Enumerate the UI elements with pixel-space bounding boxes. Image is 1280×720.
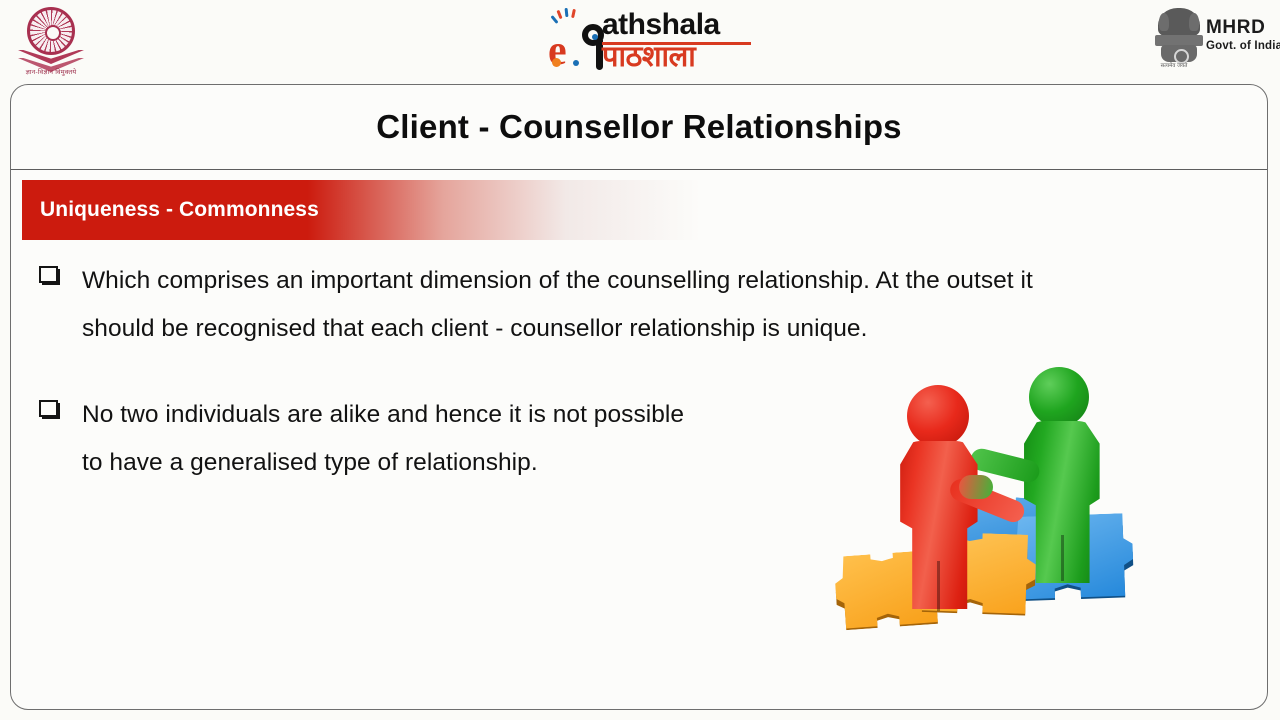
- list-item-line: should be recognised that each client - …: [82, 305, 1185, 353]
- spark-icon-3: [571, 9, 576, 18]
- figure-red-person: [889, 385, 999, 615]
- list-item-text: Which comprises an important dimension o…: [82, 257, 1185, 353]
- mhrd-title: MHRD: [1206, 18, 1265, 37]
- page-title: Client - Counsellor Relationships: [11, 85, 1267, 169]
- list-item: Which comprises an important dimension o…: [25, 257, 1185, 353]
- ugc-emblem-logo: ज्ञान-विज्ञान विमुक्तये: [8, 4, 94, 80]
- mhrd-motto-text: सत्यमेव जयते: [1146, 61, 1202, 69]
- figure-red-head: [907, 385, 969, 447]
- lion-capital-icon: [1158, 8, 1200, 36]
- orange-dot-icon: [552, 58, 561, 67]
- spark-icon-4: [550, 15, 558, 24]
- list-item-line: Which comprises an important dimension o…: [82, 257, 1185, 305]
- figure-green-leg-gap: [1061, 535, 1064, 581]
- blue-dot-icon: [573, 60, 579, 66]
- mhrd-logo: सत्यमेव जयते MHRD Govt. of India: [1146, 4, 1274, 78]
- slide-frame: Client - Counsellor Relationships Unique…: [10, 84, 1268, 710]
- epathshala-logo: e athshala पाठशाला: [546, 6, 751, 76]
- figure-red-leg-gap: [937, 561, 940, 611]
- square-bullet-icon: [39, 266, 58, 283]
- epathshala-wordmark-hi: पाठशाला: [602, 42, 695, 72]
- ugc-motto-text: ज्ञान-विज्ञान विमुक्तये: [8, 67, 94, 76]
- section-banner-label: Uniqueness - Commonness: [40, 198, 319, 222]
- spark-icon-2: [565, 8, 569, 17]
- section-banner: Uniqueness - Commonness: [22, 180, 702, 240]
- handshake-icon: [959, 475, 993, 499]
- handshake-puzzle-illustration: [821, 367, 1151, 657]
- page-header: ज्ञान-विज्ञान विमुक्तये e athshala पाठशा…: [0, 0, 1280, 82]
- square-bullet-icon: [39, 400, 58, 417]
- emblem-base-icon: [1161, 45, 1197, 62]
- figure-green-person: [1017, 367, 1127, 585]
- figure-green-head: [1029, 367, 1089, 427]
- spark-icon-1: [556, 10, 562, 19]
- epathshala-wordmark-en: athshala: [602, 10, 720, 40]
- mhrd-subtitle: Govt. of India: [1206, 40, 1280, 52]
- title-divider: [11, 169, 1267, 170]
- ashoka-chakra-icon: [27, 7, 75, 55]
